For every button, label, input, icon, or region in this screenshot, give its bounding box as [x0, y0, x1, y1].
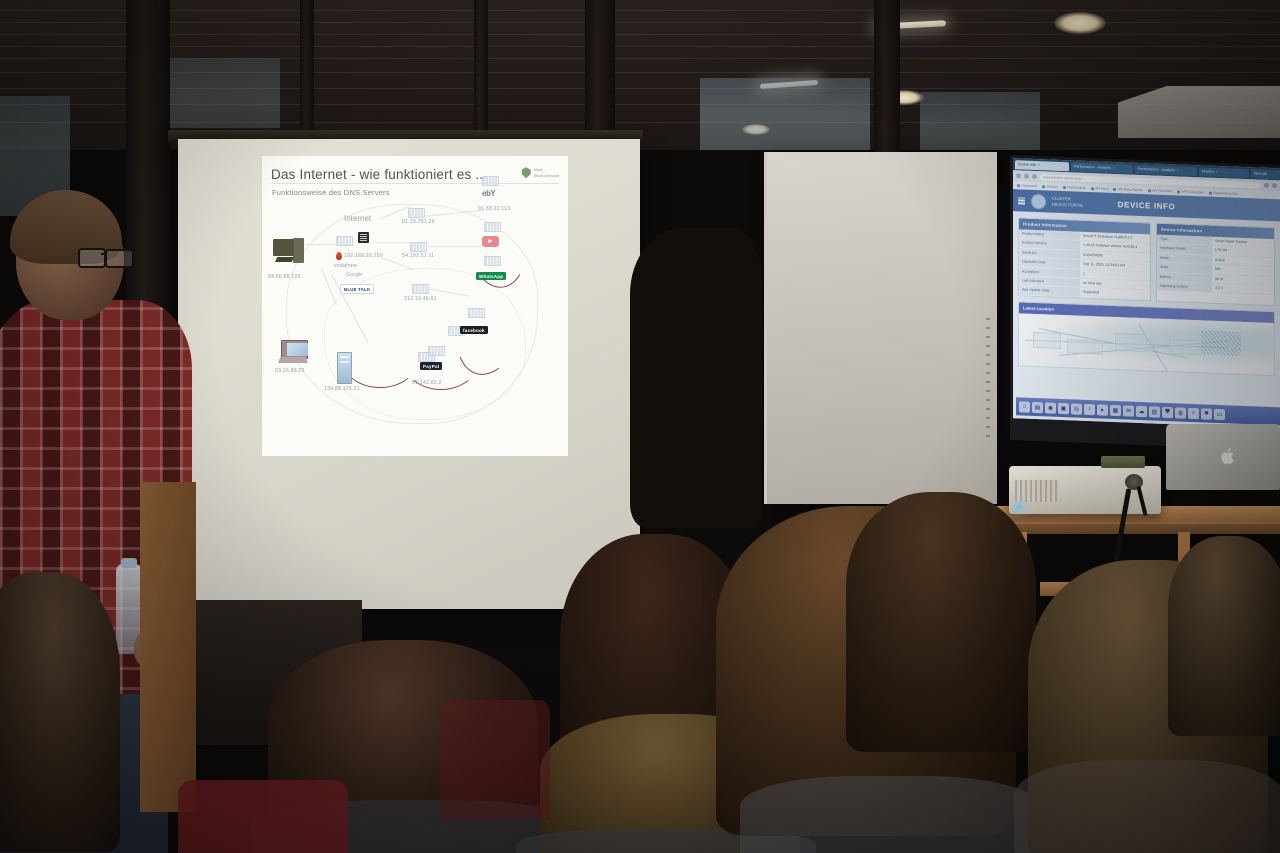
tab-label: Performance - Analysis [1074, 164, 1111, 169]
macbook-laptop [1166, 424, 1280, 502]
menu-icon[interactable] [1272, 183, 1277, 188]
bookmark-item[interactable]: API Connection [1177, 189, 1204, 194]
dns-node [410, 242, 427, 252]
app-content: Product Information Product NameSmartPT … [1013, 211, 1280, 428]
bookmark-label: API Docs Partner [1118, 187, 1143, 192]
ip-label-pc: 84.56.88.125 [268, 274, 301, 280]
browser-tab[interactable]: New tab [1251, 169, 1280, 179]
logo-line-2: Stadt Detmold [534, 173, 559, 179]
bookmark-star-icon[interactable] [1264, 183, 1269, 188]
presentation-slide: Das Internet - wie funktioniert es ... M… [262, 156, 568, 456]
bookmark-label: Organisation Sec [1213, 191, 1237, 196]
isp-label: vodafone [334, 263, 357, 269]
files-icon[interactable]: ▤ [1032, 401, 1043, 412]
map-view[interactable] [1019, 313, 1274, 375]
product-information-card: Product Information Product NameSmartPT … [1018, 217, 1151, 301]
tab-label: Device Info [1018, 162, 1036, 167]
router-node [336, 236, 353, 246]
close-icon[interactable]: × [1038, 163, 1040, 167]
bluetalk-logo: BLUE TALK [340, 284, 374, 294]
device-icon [358, 232, 369, 243]
latest-location-card: Latest Location [1018, 301, 1275, 376]
browser-tab[interactable]: Monitor × [1199, 167, 1249, 178]
projector-vents [1015, 480, 1059, 502]
chair-back [178, 780, 348, 853]
ip-label-gateway: 192.168.26.250 [344, 253, 383, 259]
bookmark-item[interactable]: Devices [1042, 184, 1058, 189]
window [162, 58, 280, 128]
close-icon[interactable]: × [1216, 170, 1218, 174]
apple-logo-icon [1220, 447, 1236, 466]
tab-label: New tab [1254, 171, 1267, 176]
slide-divider [271, 183, 559, 184]
browser-tab[interactable]: Device Info × [1015, 160, 1069, 171]
organization-logo: Medi Stadt Detmold [522, 167, 559, 179]
home-icon[interactable] [1032, 174, 1037, 179]
page-title: DEVICE INFO [1013, 196, 1280, 215]
ip-label-server: 134.88.125.21 [324, 386, 360, 392]
monitor-screen: Device Info × Performance - Analysis × P… [1013, 158, 1280, 428]
whiteboard-hinge-dots [986, 318, 990, 440]
network-link [304, 244, 338, 245]
bookmark-item[interactable]: API Docs [1091, 186, 1109, 191]
eyeglasses-icon [78, 248, 134, 268]
cloud-icon[interactable]: ☁ [1136, 405, 1147, 416]
bookmark-label: Dashboard [1022, 183, 1038, 188]
search-icon[interactable]: ⌕ [1188, 407, 1199, 418]
shield-icon[interactable]: ⛊ [1162, 406, 1173, 417]
projector-status-led [1017, 505, 1022, 510]
music-icon[interactable]: ♪ [1084, 403, 1095, 414]
bookmark-label: API Cloud API [1152, 188, 1172, 193]
pillar [474, 0, 488, 136]
back-icon[interactable] [1016, 173, 1021, 178]
notes-icon[interactable]: ▣ [1058, 402, 1069, 413]
chair-back [440, 700, 550, 820]
audience-shoulders [1014, 760, 1280, 853]
ip-label-dns-2: 54.192.51.11 [402, 253, 434, 259]
terminal-icon[interactable]: ▸ [1097, 404, 1108, 415]
mail-icon[interactable]: ✉ [1123, 405, 1134, 416]
google-logo: Google [346, 272, 362, 278]
close-icon[interactable]: × [1113, 166, 1115, 170]
pillar [300, 0, 314, 132]
coat-on-chair [630, 228, 762, 528]
screen-surface: Das Internet - wie funktioniert es ... M… [178, 139, 640, 609]
slide-subtitle: Funktionsweise des DNS Servers [272, 188, 390, 197]
tab-label: Performance - Analysis [1138, 167, 1175, 172]
home-icon[interactable]: ⌂ [1019, 401, 1030, 412]
row-value: Supported [1080, 288, 1150, 300]
internet-label: Internet [344, 214, 371, 223]
calendar-icon[interactable]: ▦ [1110, 404, 1121, 415]
device-information-card: Device Information TypeSmart Panel Track… [1156, 223, 1275, 306]
desktop-monitor: Device Info × Performance - Analysis × P… [1010, 155, 1280, 450]
bookmark-label: Devices [1047, 184, 1058, 188]
browser-tab[interactable]: Performance - Analysis × [1135, 164, 1197, 175]
row-key: Operating System [1157, 282, 1212, 293]
bookmark-item[interactable]: Dashboard [1017, 183, 1037, 188]
audience-member [0, 572, 120, 852]
bookmark-label: API Connection [1182, 190, 1204, 195]
firewall-icon [336, 252, 342, 260]
shield-icon [522, 167, 531, 178]
reload-icon[interactable] [1024, 174, 1029, 179]
ip-label-dns-3: 212.19.46.61 [404, 296, 437, 302]
host-node [482, 176, 499, 186]
bookmark-item[interactable]: Performance [1063, 185, 1086, 190]
close-icon[interactable]: × [1177, 168, 1179, 172]
laptop-lid [1166, 424, 1280, 490]
photo-scene: Das Internet - wie funktioniert es ... M… [0, 0, 1280, 853]
ceiling-downlight [1054, 12, 1106, 34]
trash-icon[interactable]: ▭ [1214, 408, 1225, 419]
projector-case-top [1101, 456, 1145, 468]
ip-label-laptop: 63.16.88.25 [275, 368, 305, 374]
user-icon[interactable]: ☻ [1201, 408, 1212, 419]
audience-shoulders [740, 776, 1040, 853]
bookmark-item[interactable]: API Docs Partner [1113, 187, 1142, 192]
window [920, 92, 1040, 150]
audience-member [846, 492, 1036, 752]
ip-label-dns-1: 81.19.251.29 [402, 219, 435, 225]
whiteboard-panel [764, 152, 997, 504]
projection-screen: Das Internet - wie funktioniert es ... M… [168, 130, 643, 617]
slide-title: Das Internet - wie funktioniert es ... [271, 167, 487, 182]
dns-node [408, 208, 425, 218]
row-key: App Update State [1019, 286, 1080, 298]
window [700, 78, 870, 150]
laptop-icon [278, 340, 308, 364]
browser-tab[interactable]: Performance - Analysis × [1071, 162, 1133, 173]
browser-icon[interactable]: ◍ [1175, 407, 1186, 418]
row-value: 3.2.1 [1212, 284, 1274, 296]
bookmark-item[interactable]: Organisation Sec [1209, 191, 1238, 196]
tab-label: Monitor [1202, 169, 1214, 173]
chart-icon[interactable]: ▧ [1149, 406, 1160, 417]
bookmark-label: API Docs [1095, 186, 1108, 191]
desktop-pc-icon [273, 238, 304, 266]
network-link [374, 242, 410, 243]
media-icon[interactable]: ◎ [1071, 403, 1082, 414]
bookmark-label: Performance [1067, 185, 1085, 190]
settings-icon[interactable]: ◉ [1045, 402, 1056, 413]
bottle-cap [121, 558, 137, 568]
bookmark-item[interactable]: API Cloud API [1148, 188, 1173, 193]
lectern [140, 482, 196, 812]
audience-member [1168, 536, 1280, 736]
ebay-logo: ebY [482, 189, 495, 198]
